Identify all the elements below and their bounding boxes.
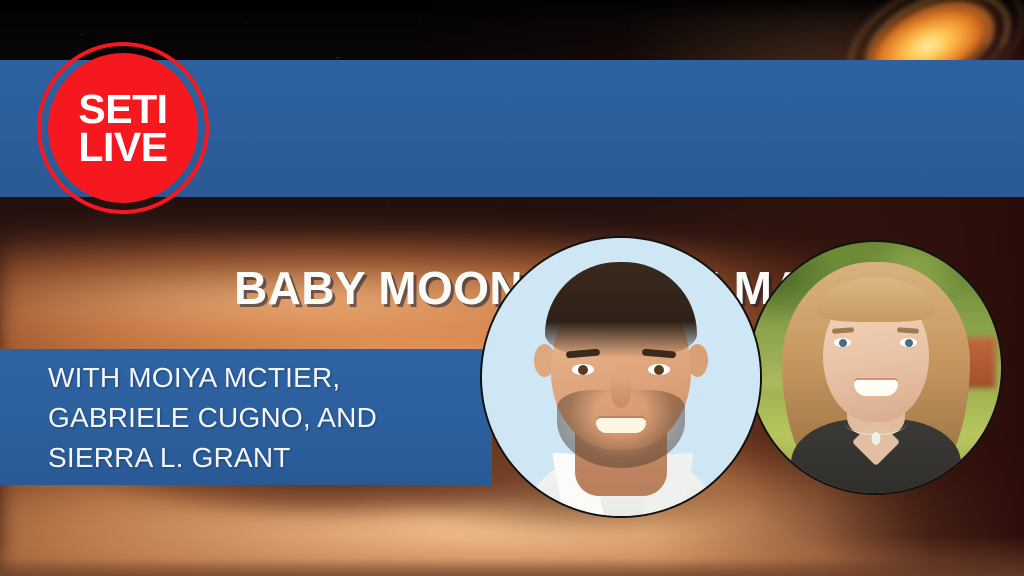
credits-line-1: WITH MOIYA MCTIER, xyxy=(48,358,478,398)
logo-line-live: LIVE xyxy=(78,128,167,166)
seti-live-episode-thumbnail: BABY MOONS IN THE MAKING? SETI LIVE WITH… xyxy=(0,0,1024,576)
portrait-left-smile xyxy=(596,418,646,433)
logo-line-seti: SETI xyxy=(78,90,167,128)
credits-line-3: SIERRA L. GRANT xyxy=(48,438,478,478)
credits-text: WITH MOIYA MCTIER, GABRIELE CUGNO, AND S… xyxy=(48,358,478,477)
portrait-right xyxy=(748,240,1003,495)
portrait-right-eye-left xyxy=(834,338,851,347)
portrait-left xyxy=(480,236,762,518)
portrait-left-eye-right xyxy=(648,364,670,375)
logo-wordmark: SETI LIVE xyxy=(37,42,209,214)
portrait-right-smile xyxy=(854,380,898,396)
credits-line-2: GABRIELE CUGNO, AND xyxy=(48,398,478,438)
portrait-left-nose xyxy=(611,376,631,408)
portrait-left-eye-left xyxy=(572,364,594,375)
seti-live-logo[interactable]: SETI LIVE xyxy=(37,42,209,214)
portrait-right-eye-right xyxy=(900,338,917,347)
portrait-right-necklace-pendant xyxy=(871,432,880,445)
